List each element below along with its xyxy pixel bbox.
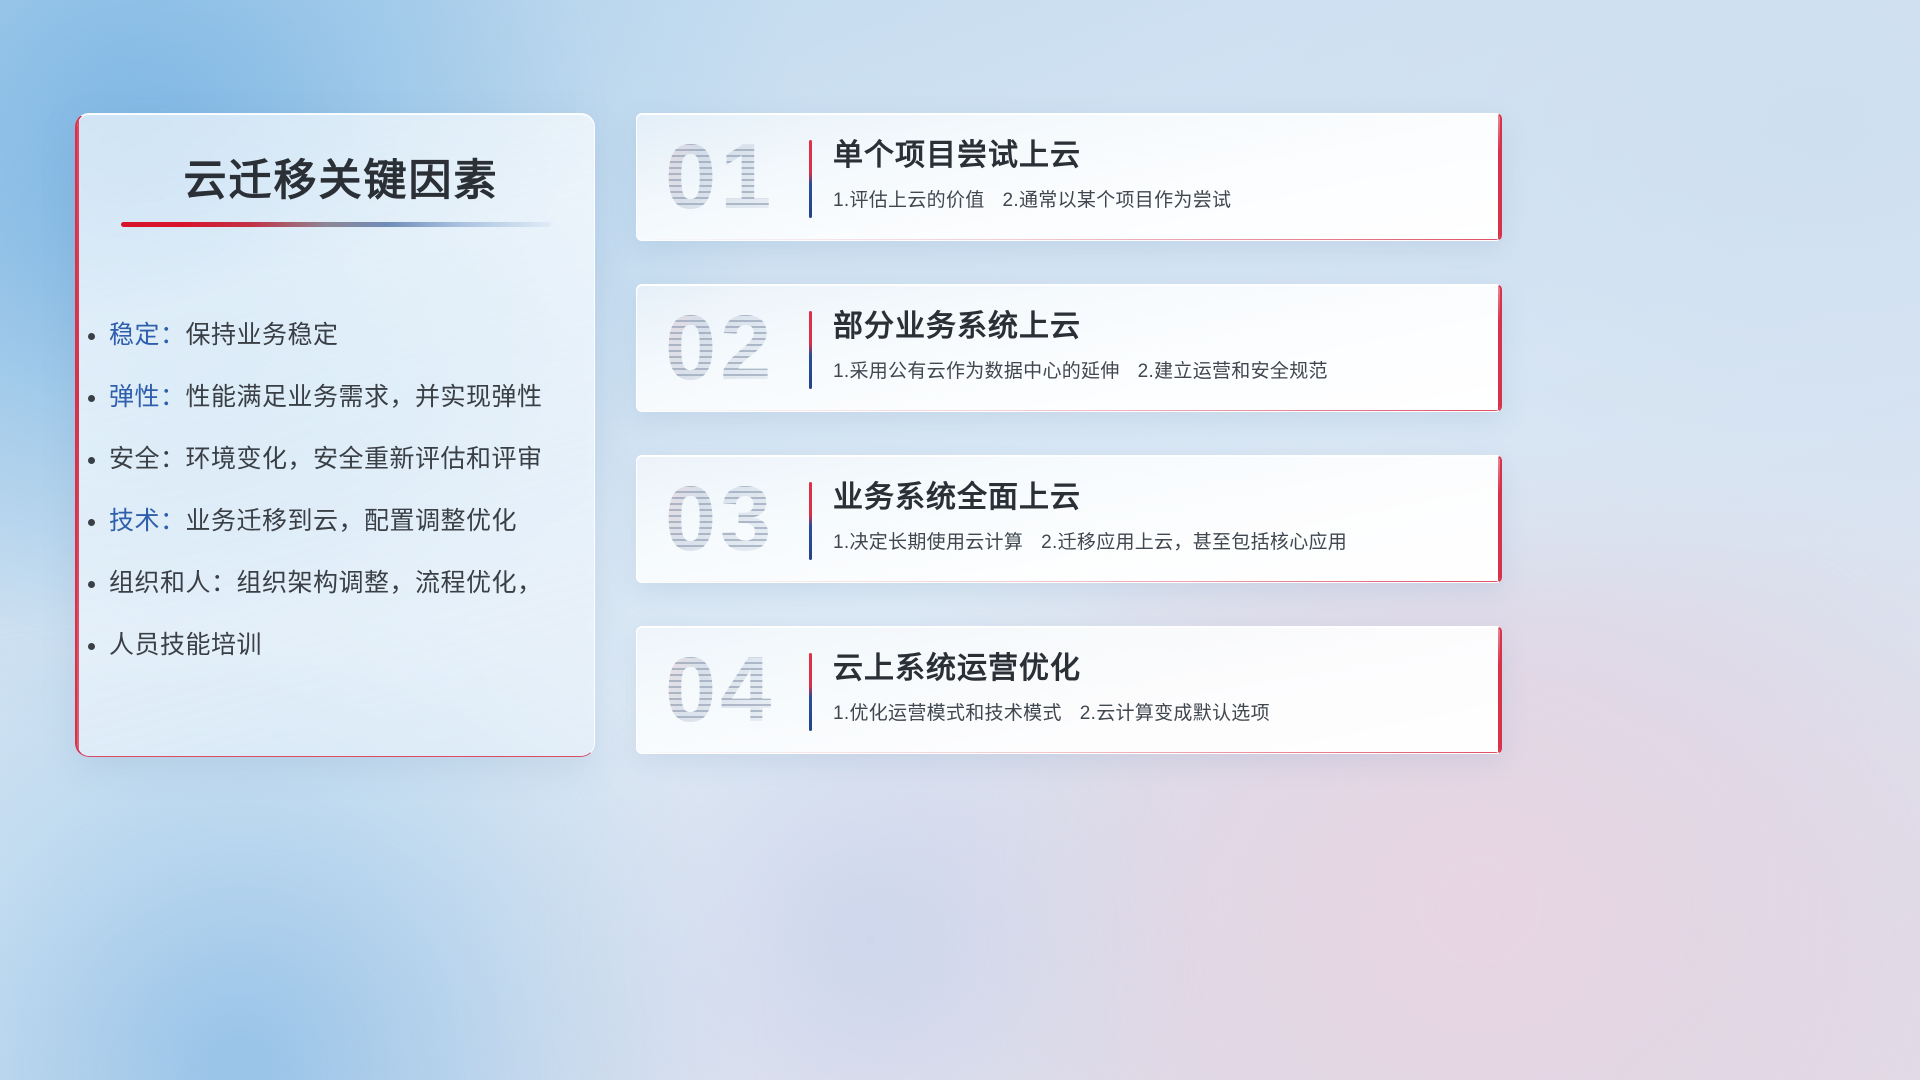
key-factors-panel: 云迁移关键因素 稳定：保持业务稳定 弹性：性能满足业务需求，并实现弹性 安全：环… [75, 113, 595, 757]
step-point-2: 2.建立运营和安全规范 [1138, 361, 1328, 382]
step-point-1: 1.评估上云的价值 [833, 190, 985, 211]
list-item: 组织和人：组织架构调整，流程优化， [109, 552, 576, 614]
step-point-2: 2.云计算变成默认选项 [1080, 703, 1270, 724]
step-content: 云上系统运营优化 1.优化运营模式和技术模式2.云计算变成默认选项 [833, 649, 1476, 727]
list-item-continuation: 人员技能培训 [109, 614, 576, 676]
step-subtitle: 1.优化运营模式和技术模式2.云计算变成默认选项 [833, 701, 1476, 727]
step-card[interactable]: 01 单个项目尝试上云 1.评估上云的价值2.通常以某个项目作为尝试 [636, 113, 1502, 241]
list-item-label: 稳定： [109, 321, 186, 349]
title-underline-rule [121, 222, 551, 227]
list-item-text: 人员技能培训 [109, 631, 262, 659]
step-point-2: 2.迁移应用上云，甚至包括核心应用 [1041, 532, 1347, 553]
step-point-1: 1.采用公有云作为数据中心的延伸 [833, 361, 1120, 382]
list-item-text: 业务迁移到云，配置调整优化 [186, 507, 518, 535]
list-item-text: 保持业务稳定 [186, 321, 339, 349]
step-divider-bar [809, 653, 812, 731]
step-content: 业务系统全面上云 1.决定长期使用云计算2.迁移应用上云，甚至包括核心应用 [833, 478, 1476, 556]
list-item-label: 安全： [109, 445, 186, 473]
list-item: 技术：业务迁移到云，配置调整优化 [109, 490, 576, 552]
key-factors-list: 稳定：保持业务稳定 弹性：性能满足业务需求，并实现弹性 安全：环境变化，安全重新… [109, 304, 576, 676]
step-divider-bar [809, 482, 812, 560]
step-number-watermark: 01 [665, 131, 775, 223]
step-title: 部分业务系统上云 [833, 307, 1476, 347]
migration-steps-list: 01 单个项目尝试上云 1.评估上云的价值2.通常以某个项目作为尝试 02 部分… [636, 113, 1502, 797]
step-title: 云上系统运营优化 [833, 649, 1476, 689]
step-card[interactable]: 02 部分业务系统上云 1.采用公有云作为数据中心的延伸2.建立运营和安全规范 [636, 284, 1502, 412]
step-card[interactable]: 03 业务系统全面上云 1.决定长期使用云计算2.迁移应用上云，甚至包括核心应用 [636, 455, 1502, 583]
list-item-label: 组织和人： [109, 569, 237, 597]
step-number-watermark: 02 [665, 302, 775, 394]
step-title: 单个项目尝试上云 [833, 136, 1476, 176]
step-content: 部分业务系统上云 1.采用公有云作为数据中心的延伸2.建立运营和安全规范 [833, 307, 1476, 385]
step-content: 单个项目尝试上云 1.评估上云的价值2.通常以某个项目作为尝试 [833, 136, 1476, 214]
step-title: 业务系统全面上云 [833, 478, 1476, 518]
list-item-label: 技术： [109, 507, 186, 535]
slide-stage: 云迁移关键因素 稳定：保持业务稳定 弹性：性能满足业务需求，并实现弹性 安全：环… [0, 0, 1920, 1080]
page-title: 云迁移关键因素 [121, 146, 561, 208]
step-subtitle: 1.评估上云的价值2.通常以某个项目作为尝试 [833, 188, 1476, 214]
list-item: 弹性：性能满足业务需求，并实现弹性 [109, 366, 576, 428]
step-point-1: 1.决定长期使用云计算 [833, 532, 1023, 553]
step-number-watermark: 03 [665, 473, 775, 565]
list-item-text: 组织架构调整，流程优化， [237, 569, 543, 597]
step-subtitle: 1.采用公有云作为数据中心的延伸2.建立运营和安全规范 [833, 359, 1476, 385]
list-item: 安全：环境变化，安全重新评估和评审 [109, 428, 576, 490]
step-point-2: 2.通常以某个项目作为尝试 [1003, 190, 1232, 211]
step-divider-bar [809, 311, 812, 389]
step-point-1: 1.优化运营模式和技术模式 [833, 703, 1062, 724]
step-subtitle: 1.决定长期使用云计算2.迁移应用上云，甚至包括核心应用 [833, 530, 1476, 556]
step-number-watermark: 04 [665, 644, 775, 736]
list-item-label: 弹性： [109, 383, 186, 411]
list-item-text: 性能满足业务需求，并实现弹性 [186, 383, 543, 411]
step-divider-bar [809, 140, 812, 218]
list-item: 稳定：保持业务稳定 [109, 304, 576, 366]
list-item-text: 环境变化，安全重新评估和评审 [186, 445, 543, 473]
step-card[interactable]: 04 云上系统运营优化 1.优化运营模式和技术模式2.云计算变成默认选项 [636, 626, 1502, 754]
